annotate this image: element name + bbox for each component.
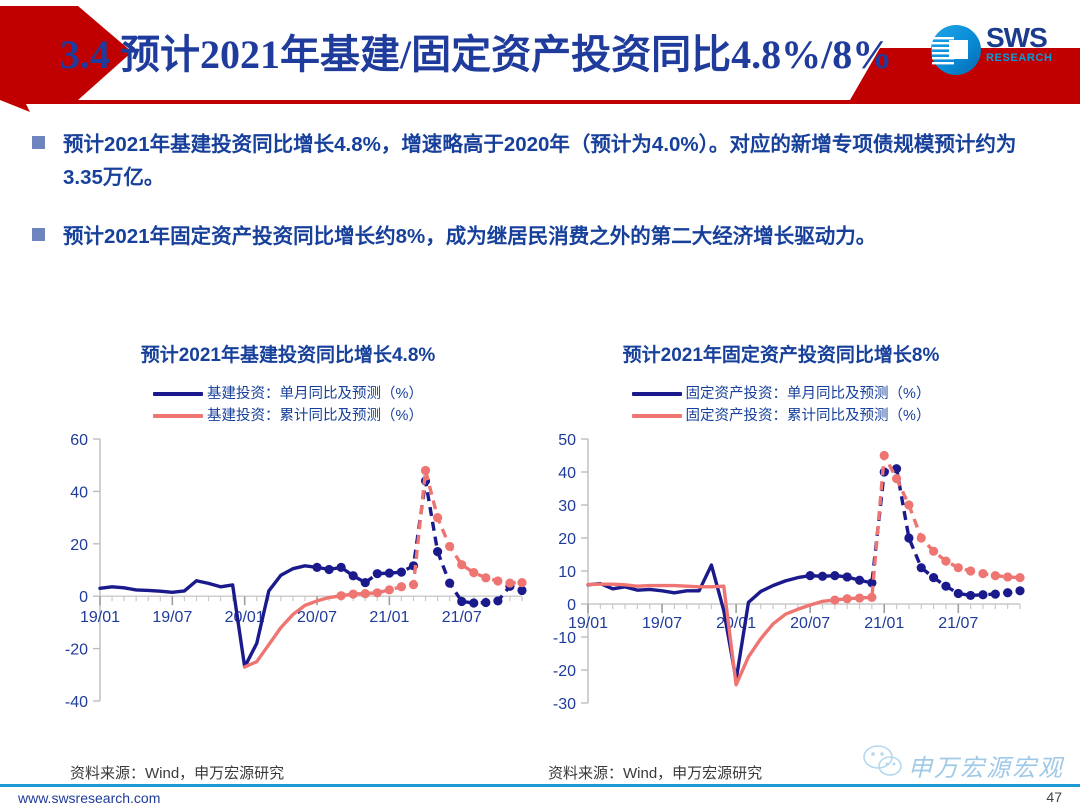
sws-globe-icon [930, 24, 982, 76]
series-marker [361, 589, 370, 598]
x-tick-label: 21/01 [864, 615, 904, 632]
sws-logo: SWS RESEARCH [930, 22, 1062, 80]
series-marker [469, 598, 478, 607]
legend-color-swatch [632, 392, 682, 396]
series-marker [385, 585, 394, 594]
y-tick-label: 20 [70, 537, 88, 554]
series-marker [954, 589, 963, 598]
x-tick-label: 19/01 [568, 615, 608, 632]
x-tick-label: 20/01 [716, 615, 756, 632]
series-line-historical [588, 584, 860, 685]
y-tick-label: 10 [558, 564, 576, 581]
page-number: 47 [1046, 789, 1062, 805]
legend-color-swatch [153, 392, 203, 396]
series-marker [929, 573, 938, 582]
series-marker [361, 578, 370, 587]
series-marker [312, 563, 321, 572]
series-marker [917, 563, 926, 572]
plot-svg-right: 50403020100-10-20-3019/0119/0720/0120/07… [536, 431, 1026, 761]
y-tick-label: -30 [553, 696, 576, 713]
y-tick-label: 40 [558, 465, 576, 482]
series-marker [855, 576, 864, 585]
y-tick-label: 50 [558, 432, 576, 449]
bullet-list: 预计2021年基建投资同比增长4.8%，增速略高于2020年（预计为4.0%）。… [32, 128, 1052, 279]
legend-label: 基建投资：累计同比及预测（%） [207, 405, 423, 427]
series-marker [517, 586, 526, 595]
x-tick-label: 20/07 [790, 615, 830, 632]
legend-item: 基建投资：单月同比及预测（%） [153, 383, 423, 405]
y-tick-label: -20 [65, 642, 88, 659]
source-note-left: 资料来源：Wind，申万宏源研究 [70, 762, 284, 783]
footer-url[interactable]: www.swsresearch.com [18, 790, 160, 806]
bullet-square-icon [32, 136, 45, 149]
series-marker [892, 474, 901, 483]
series-marker [409, 580, 418, 589]
series-marker [373, 569, 382, 578]
x-tick-label: 21/07 [938, 615, 978, 632]
series-marker [929, 547, 938, 556]
series-marker [457, 560, 466, 569]
series-marker [855, 593, 864, 602]
series-marker [349, 590, 358, 599]
y-tick-label: -40 [65, 694, 88, 711]
series-marker [966, 591, 975, 600]
chart-title: 预计2021年基建投资同比增长4.8% [48, 340, 528, 367]
series-line-historical [245, 594, 366, 667]
page-title: 3.4 预计2021年基建/固定资产投资同比4.8%/8% [60, 20, 900, 82]
series-marker [941, 582, 950, 591]
slide-header: 3.4 预计2021年基建/固定资产投资同比4.8%/8% [0, 0, 1080, 112]
chart-legend: 基建投资：单月同比及预测（%） 基建投资：累计同比及预测（%） [48, 383, 528, 427]
series-marker [954, 563, 963, 572]
x-tick-label: 19/01 [80, 609, 120, 626]
logo-research-text: RESEARCH [986, 52, 1053, 65]
x-tick-label: 19/07 [642, 615, 682, 632]
series-marker [493, 576, 502, 585]
series-marker [830, 595, 839, 604]
x-tick-label: 19/07 [152, 609, 192, 626]
series-marker [433, 547, 442, 556]
series-marker [1003, 588, 1012, 597]
legend-item: 固定资产投资：单月同比及预测（%） [632, 383, 931, 405]
series-marker [978, 569, 987, 578]
bullet-text: 预计2021年基建投资同比增长4.8%，增速略高于2020年（预计为4.0%）。… [63, 128, 1052, 194]
series-marker [445, 542, 454, 551]
series-marker [421, 466, 430, 475]
logo-sws-text: SWS [986, 24, 1053, 52]
series-marker [1015, 573, 1024, 582]
series-marker [904, 500, 913, 509]
y-tick-label: 0 [79, 589, 88, 606]
bullet-text: 预计2021年固定资产投资同比增长约8%，成为继居民消费之外的第二大经济增长驱动… [63, 220, 876, 253]
y-tick-label: -10 [553, 630, 576, 647]
series-marker [830, 571, 839, 580]
series-marker [806, 571, 815, 580]
series-marker [337, 591, 346, 600]
y-tick-label: -20 [553, 663, 576, 680]
series-marker [966, 566, 975, 575]
x-tick-label: 21/07 [442, 609, 482, 626]
y-tick-label: 20 [558, 531, 576, 548]
series-marker [843, 572, 852, 581]
series-marker [1003, 572, 1012, 581]
series-marker [349, 571, 358, 580]
series-marker [517, 578, 526, 587]
x-tick-label: 20/07 [297, 609, 337, 626]
series-marker [941, 557, 950, 566]
legend-color-swatch [632, 414, 682, 418]
chart-baseline-investment: 预计2021年基建投资同比增长4.8% 基建投资：单月同比及预测（%） 基建投资… [48, 340, 528, 770]
series-marker [917, 533, 926, 542]
series-marker [481, 573, 490, 582]
series-marker [880, 451, 889, 460]
series-marker [818, 572, 827, 581]
legend-label: 固定资产投资：单月同比及预测（%） [686, 383, 931, 405]
series-marker [469, 568, 478, 577]
series-marker [373, 588, 382, 597]
chart-legend: 固定资产投资：单月同比及预测（%） 固定资产投资：累计同比及预测（%） [536, 383, 1026, 427]
series-marker [978, 590, 987, 599]
plot-svg-left: 6040200-20-4019/0119/0720/0120/0721/0121… [48, 431, 528, 761]
x-tick-label: 21/01 [369, 609, 409, 626]
series-marker [397, 582, 406, 591]
series-marker [385, 569, 394, 578]
series-marker [397, 567, 406, 576]
plot-area: 6040200-20-4019/0119/0720/0120/0721/0121… [48, 431, 528, 766]
y-tick-label: 0 [567, 597, 576, 614]
plot-area: 50403020100-10-20-3019/0119/0720/0120/07… [536, 431, 1026, 766]
source-note-right: 资料来源：Wind，申万宏源研究 [548, 762, 762, 783]
y-tick-label: 40 [70, 484, 88, 501]
list-item: 预计2021年基建投资同比增长4.8%，增速略高于2020年（预计为4.0%）。… [32, 128, 1052, 194]
bullet-square-icon [32, 228, 45, 241]
series-marker [1015, 586, 1024, 595]
series-marker [337, 563, 346, 572]
series-marker [457, 597, 466, 606]
series-marker [505, 579, 514, 588]
series-marker [843, 594, 852, 603]
chart-title: 预计2021年固定资产投资同比增长8% [536, 340, 1026, 367]
list-item: 预计2021年固定资产投资同比增长约8%，成为继居民消费之外的第二大经济增长驱动… [32, 220, 1052, 253]
series-marker [991, 590, 1000, 599]
series-marker [433, 513, 442, 522]
sws-wordmark: SWS RESEARCH [986, 24, 1053, 65]
footer-divider [0, 784, 1080, 787]
y-tick-label: 60 [70, 432, 88, 449]
x-tick-label: 20/01 [225, 609, 265, 626]
series-marker [481, 598, 490, 607]
legend-item: 基建投资：累计同比及预测（%） [153, 405, 423, 427]
series-marker [867, 593, 876, 602]
series-marker [324, 565, 333, 574]
series-marker [991, 571, 1000, 580]
legend-label: 固定资产投资：累计同比及预测（%） [686, 405, 931, 427]
legend-color-swatch [153, 414, 203, 418]
series-marker [493, 596, 502, 605]
series-marker [445, 579, 454, 588]
legend-item: 固定资产投资：累计同比及预测（%） [632, 405, 931, 427]
y-tick-label: 30 [558, 498, 576, 515]
series-marker [904, 533, 913, 542]
legend-label: 基建投资：单月同比及预测（%） [207, 383, 423, 405]
chart-fixed-asset-investment: 预计2021年固定资产投资同比增长8% 固定资产投资：单月同比及预测（%） 固定… [536, 340, 1026, 770]
